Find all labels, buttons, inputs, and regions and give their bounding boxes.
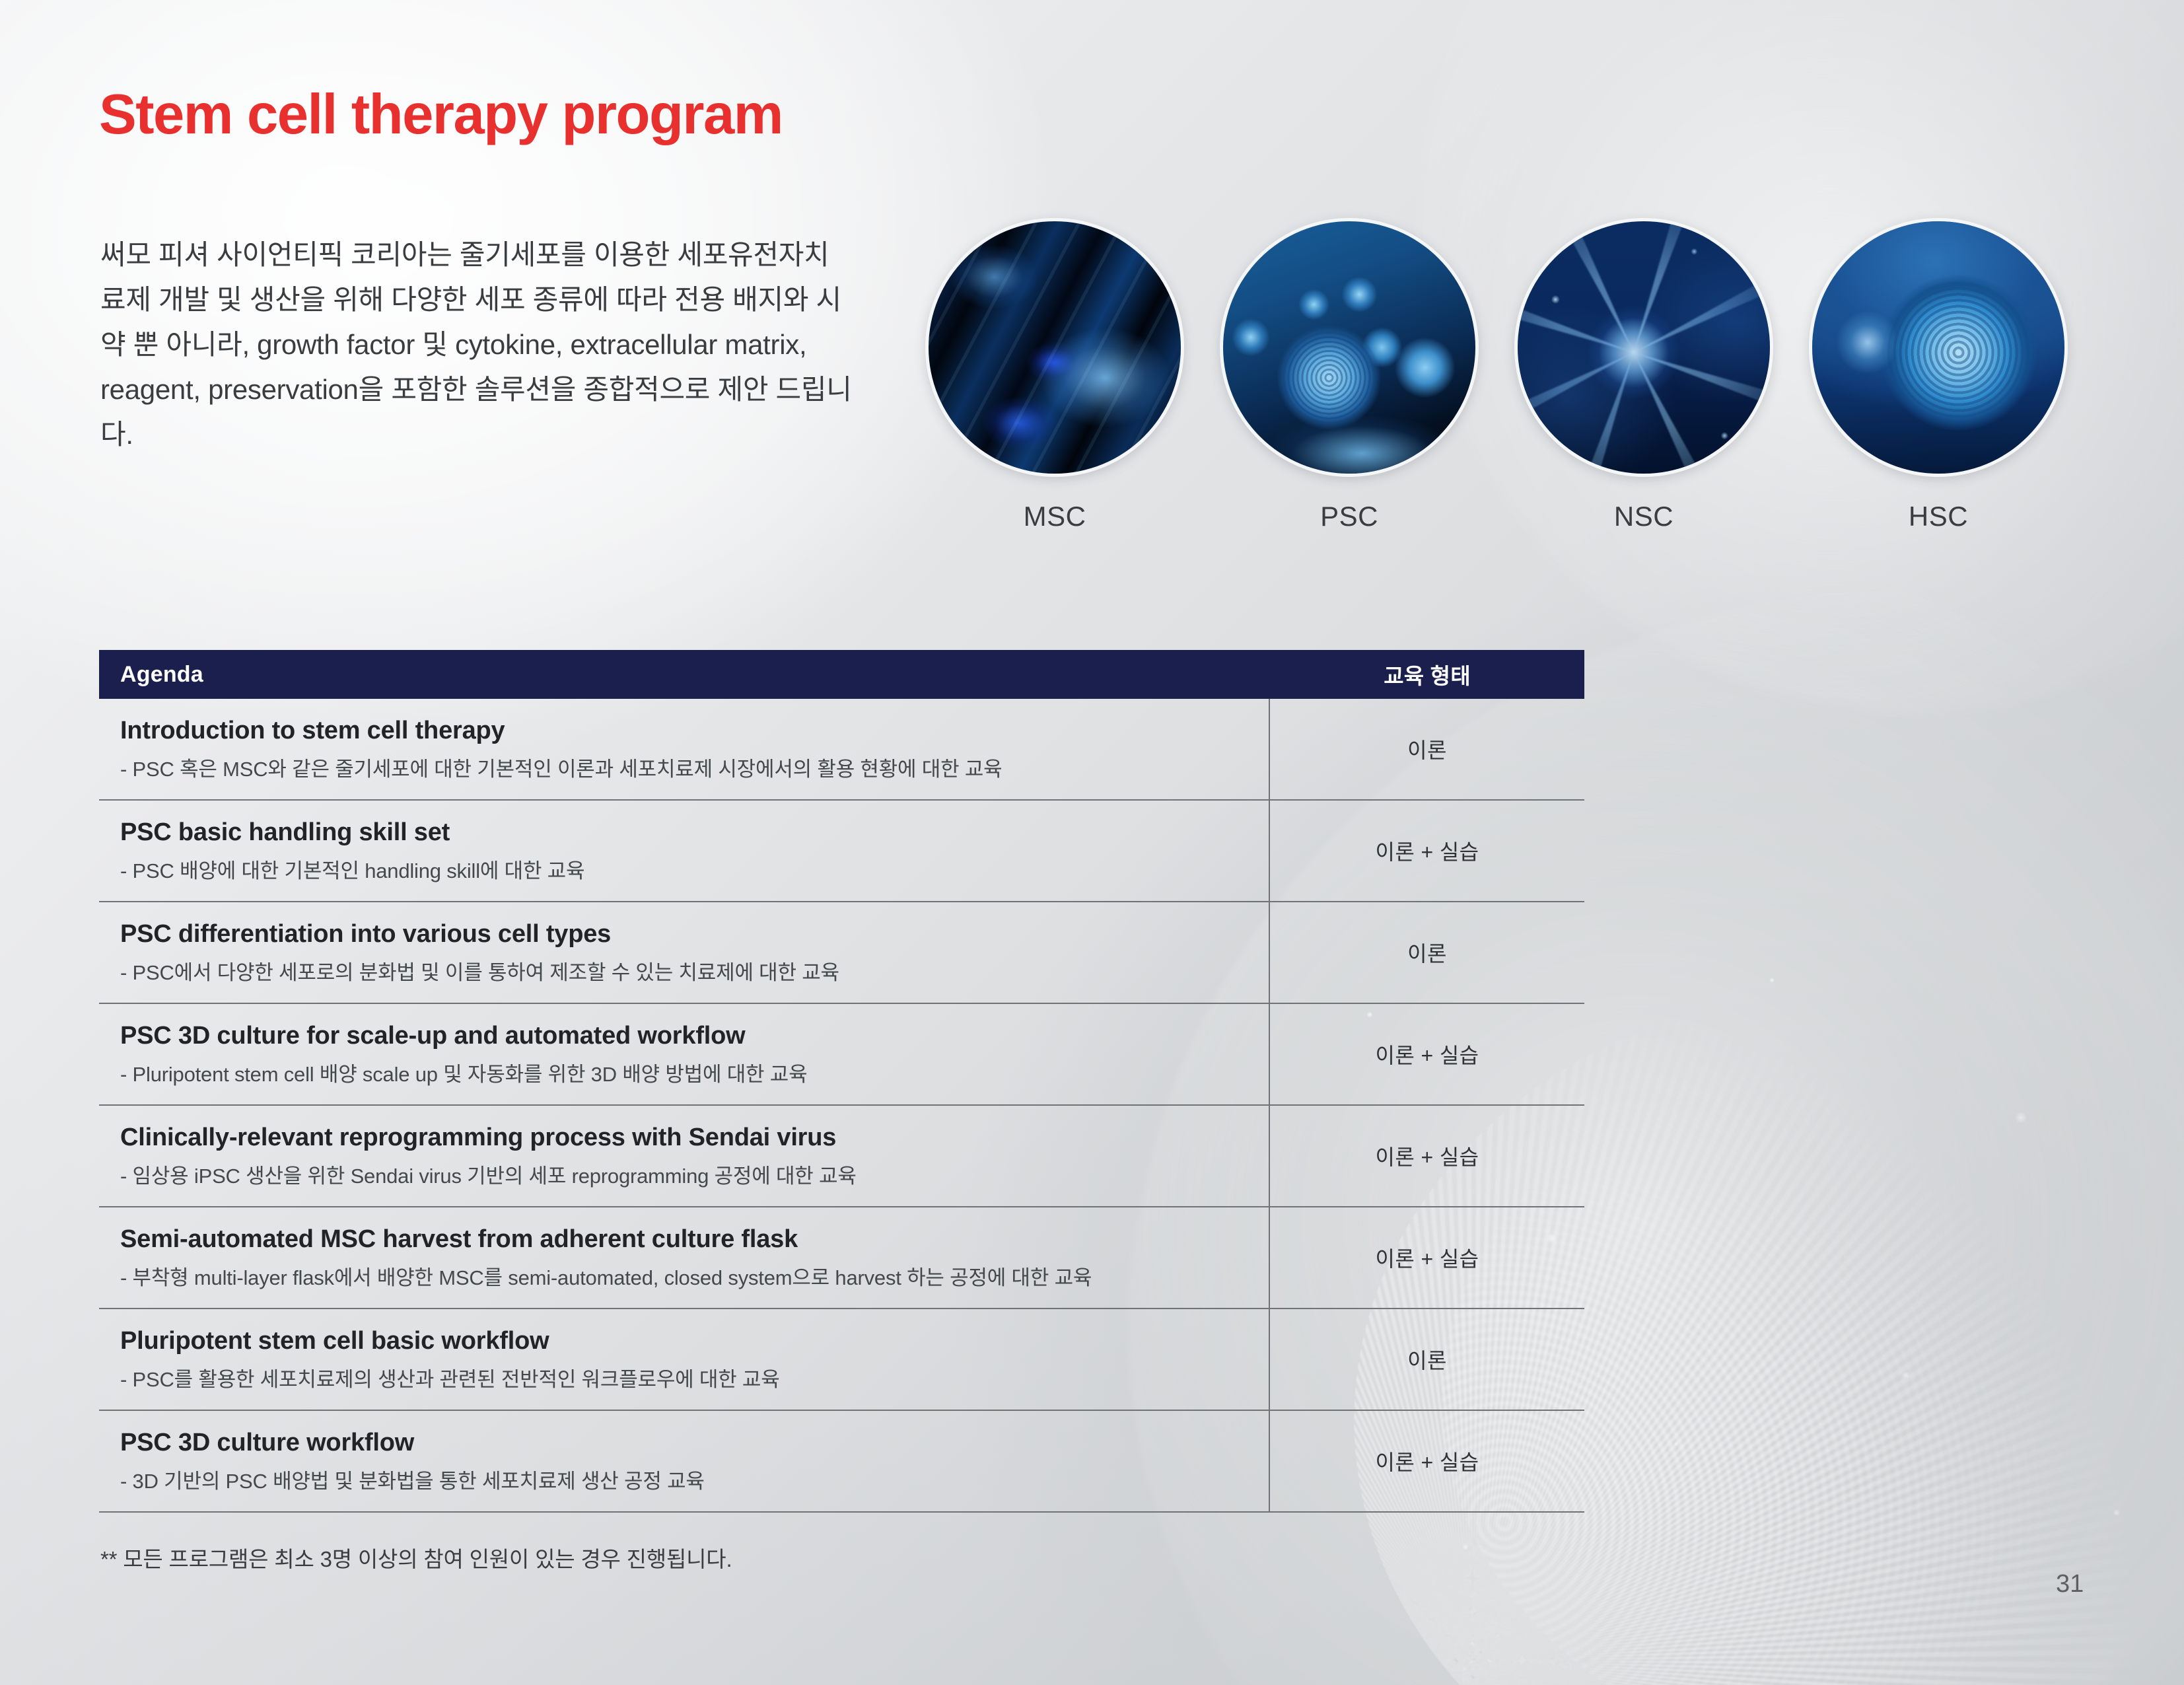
hsc-image-circle (1809, 218, 2068, 477)
nsc-image-circle (1514, 218, 1773, 477)
column-header-training-type: 교육 형태 (1270, 650, 1584, 699)
table-row: PSC differentiation into various cell ty… (99, 902, 1584, 1004)
training-type-cell: 이론 (1270, 902, 1584, 1003)
footnote: ** 모든 프로그램은 최소 3명 이상의 참여 인원이 있는 경우 진행됩니다… (100, 1542, 732, 1573)
cell-type-label-psc: PSC (1320, 501, 1378, 532)
table-row: PSC 3D culture for scale-up and automate… (99, 1004, 1584, 1106)
page-title: Stem cell therapy program (99, 83, 783, 147)
cell-type-label-nsc: NSC (1614, 501, 1673, 532)
agenda-description: - PSC를 활용한 세포치료제의 생산과 관련된 전반적인 워크플로우에 대한… (120, 1367, 1249, 1393)
agenda-description: - PSC에서 다양한 세포로의 분화법 및 이를 통하여 제조할 수 있는 치… (120, 960, 1249, 986)
agenda-title: PSC differentiation into various cell ty… (120, 919, 1249, 950)
table-row: Introduction to stem cell therapy - PSC … (99, 699, 1584, 801)
slide-canvas: Stem cell therapy program 써모 피셔 사이언티픽 코리… (0, 0, 2184, 1685)
agenda-cell: PSC differentiation into various cell ty… (99, 902, 1270, 1003)
agenda-cell: Clinically-relevant reprogramming proces… (99, 1106, 1270, 1206)
agenda-title: Clinically-relevant reprogramming proces… (120, 1123, 1249, 1153)
page-number: 31 (2056, 1570, 2084, 1598)
table-row: PSC basic handling skill set - PSC 배양에 대… (99, 801, 1584, 902)
agenda-cell: PSC 3D culture workflow - 3D 기반의 PSC 배양법… (99, 1411, 1270, 1511)
agenda-title: PSC basic handling skill set (120, 818, 1249, 848)
training-type-cell: 이론 (1270, 1309, 1584, 1410)
agenda-cell: Semi-automated MSC harvest from adherent… (99, 1207, 1270, 1308)
table-header-row: Agenda 교육 형태 (99, 650, 1584, 699)
training-type-cell: 이론 + 실습 (1270, 1207, 1584, 1308)
agenda-title: Semi-automated MSC harvest from adherent… (120, 1225, 1249, 1255)
psc-image-circle (1220, 218, 1479, 477)
table-row: Clinically-relevant reprogramming proces… (99, 1106, 1584, 1207)
cell-type-nsc: NSC (1512, 218, 1775, 532)
cell-type-label-hsc: HSC (1909, 501, 1968, 532)
agenda-description: - 임상용 iPSC 생산을 위한 Sendai virus 기반의 세포 re… (120, 1164, 1249, 1190)
agenda-title: PSC 3D culture workflow (120, 1428, 1249, 1458)
agenda-description: - PSC 배양에 대한 기본적인 handling skill에 대한 교육 (120, 859, 1249, 884)
psc-spheroid-cells-icon (1223, 221, 1475, 474)
nsc-neuron-cell-icon (1518, 221, 1770, 474)
agenda-cell: Introduction to stem cell therapy - PSC … (99, 699, 1270, 799)
agenda-title: Pluripotent stem cell basic workflow (120, 1326, 1249, 1357)
cell-type-msc: MSC (923, 218, 1186, 532)
hsc-sphere-cell-icon (1812, 221, 2064, 474)
agenda-description: - 3D 기반의 PSC 배양법 및 분화법을 통한 세포치료제 생산 공정 교… (120, 1469, 1249, 1495)
training-type-cell: 이론 + 실습 (1270, 1004, 1584, 1104)
table-row: Semi-automated MSC harvest from adherent… (99, 1207, 1584, 1309)
msc-image-circle (925, 218, 1184, 477)
agenda-title: Introduction to stem cell therapy (120, 716, 1249, 746)
agenda-description: - PSC 혹은 MSC와 같은 줄기세포에 대한 기본적인 이론과 세포치료제… (120, 757, 1249, 783)
msc-fluorescence-micrograph-icon (929, 221, 1181, 474)
training-type-cell: 이론 + 실습 (1270, 1106, 1584, 1206)
agenda-cell: Pluripotent stem cell basic workflow - P… (99, 1309, 1270, 1410)
agenda-title: PSC 3D culture for scale-up and automate… (120, 1021, 1249, 1052)
cell-type-label-msc: MSC (1024, 501, 1086, 532)
agenda-table: Agenda 교육 형태 Introduction to stem cell t… (99, 650, 1584, 1513)
agenda-cell: PSC 3D culture for scale-up and automate… (99, 1004, 1270, 1104)
column-header-agenda: Agenda (99, 650, 1270, 699)
agenda-description: - Pluripotent stem cell 배양 scale up 및 자동… (120, 1062, 1249, 1088)
cell-type-psc: PSC (1218, 218, 1481, 532)
training-type-cell: 이론 + 실습 (1270, 1411, 1584, 1511)
training-type-cell: 이론 (1270, 699, 1584, 799)
table-row: PSC 3D culture workflow - 3D 기반의 PSC 배양법… (99, 1411, 1584, 1513)
agenda-description: - 부착형 multi-layer flask에서 배양한 MSC를 semi-… (120, 1266, 1249, 1291)
cell-type-gallery: MSC PSC NSC HSC (923, 218, 2070, 532)
intro-paragraph: 써모 피셔 사이언티픽 코리아는 줄기세포를 이용한 세포유전자치료제 개발 및… (100, 233, 853, 457)
table-row: Pluripotent stem cell basic workflow - P… (99, 1309, 1584, 1411)
cell-type-hsc: HSC (1807, 218, 2070, 532)
training-type-cell: 이론 + 실습 (1270, 801, 1584, 901)
agenda-cell: PSC basic handling skill set - PSC 배양에 대… (99, 801, 1270, 901)
